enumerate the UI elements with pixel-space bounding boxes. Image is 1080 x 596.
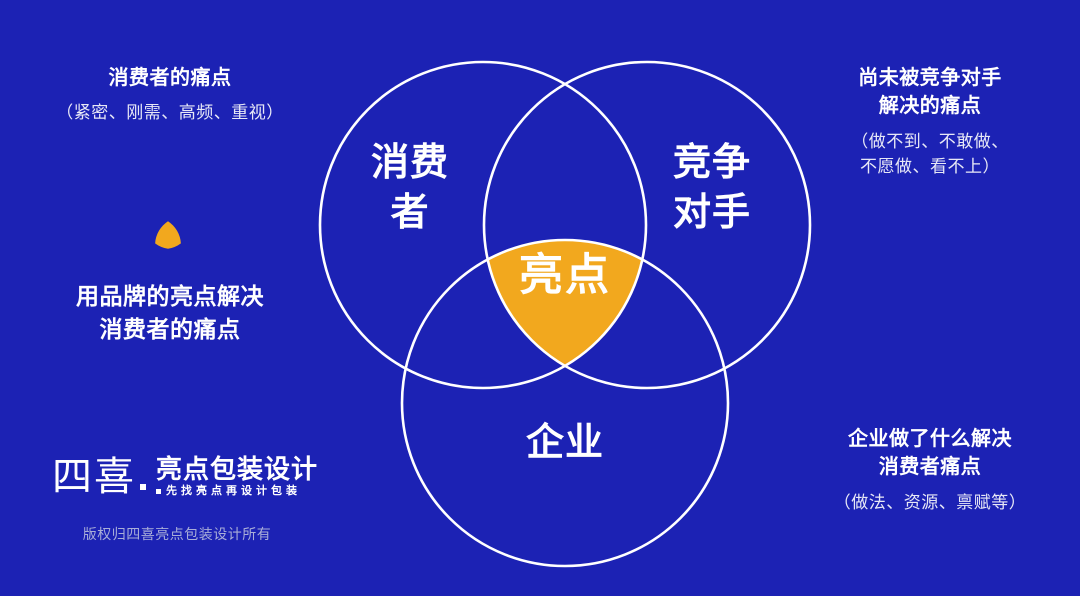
venn-label-competitor-line1: 竞争 <box>673 142 751 184</box>
callout-company: 企业做了什么解决 消费者痛点 （做法、资源、禀赋等） <box>790 425 1070 515</box>
venn-diagram: 消费 者 竞争 对手 企业 亮点 <box>300 30 820 570</box>
venn-label-consumer-line1: 消费 <box>371 142 449 184</box>
venn-label-company: 企业 <box>526 421 604 464</box>
key-statement: 用品牌的亮点解决 消费者的痛点 <box>0 280 340 347</box>
callout-competitor-sub: （做不到、不敢做、 不愿做、看不上） <box>790 129 1070 180</box>
logo-tagline-dot <box>156 489 161 494</box>
logo-mark: 四喜 <box>52 457 146 497</box>
callout-competitor: 尚未被竞争对手 解决的痛点 （做不到、不敢做、 不愿做、看不上） <box>790 64 1070 180</box>
venn-center-label: 亮点 <box>519 251 611 300</box>
slide-canvas: 消费 者 竞争 对手 企业 亮点 消费者的痛点 （紧密、刚需、高频、重视） 尚未… <box>0 0 1080 596</box>
callout-competitor-headline: 尚未被竞争对手 解决的痛点 <box>790 64 1070 121</box>
brand-logo: 四喜 亮点包装设计 先找亮点再设计包装 <box>52 456 318 497</box>
callout-consumer-headline: 消费者的痛点 <box>0 64 340 92</box>
logo-text-block: 亮点包装设计 先找亮点再设计包装 <box>156 456 318 497</box>
copyright-notice: 版权归四喜亮点包装设计所有 <box>52 524 302 544</box>
venn-label-consumer-line2: 者 <box>390 192 429 234</box>
callout-consumer-sub: （紧密、刚需、高频、重视） <box>0 100 340 126</box>
accent-shield-icon <box>153 220 183 250</box>
intersection-highlight <box>300 30 820 570</box>
logo-period-dot <box>140 484 146 490</box>
callout-company-headline: 企业做了什么解决 消费者痛点 <box>790 425 1070 482</box>
logo-brand-name: 亮点包装设计 <box>156 456 318 483</box>
venn-label-competitor-line2: 对手 <box>673 192 751 234</box>
logo-mark-text: 四喜 <box>52 457 136 497</box>
callout-consumer: 消费者的痛点 （紧密、刚需、高频、重视） <box>0 64 340 126</box>
logo-tagline: 先找亮点再设计包装 <box>166 486 301 497</box>
logo-tagline-row: 先找亮点再设计包装 <box>156 486 318 497</box>
callout-company-sub: （做法、资源、禀赋等） <box>790 490 1070 516</box>
